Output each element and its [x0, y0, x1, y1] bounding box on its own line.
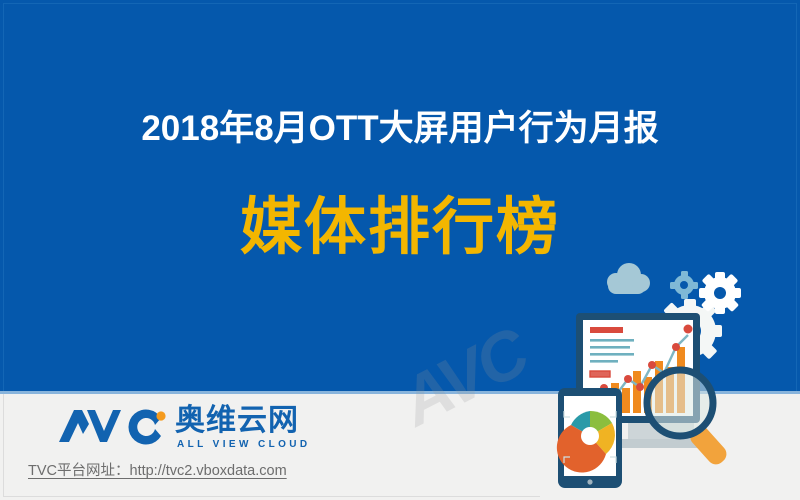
avc-logo[interactable]: 奥维云网 ALL VIEW CLOUD	[57, 404, 317, 456]
logo-brand-cn: 奥维云网	[175, 404, 299, 438]
illustration-svg	[540, 255, 800, 500]
gear-small-icon	[670, 271, 698, 299]
footer-border-left	[3, 394, 4, 497]
data-analytics-illustration	[540, 255, 800, 500]
slide-canvas: 2018年8月OTT大屏用户行为月报 媒体排行榜 AVC	[0, 0, 800, 500]
gear-medium-icon	[699, 272, 741, 314]
cloud-icon	[607, 263, 650, 294]
tvc-platform-url[interactable]: TVC平台网址：http://tvc2.vboxdata.com	[28, 459, 287, 480]
avc-wordmark-icon	[57, 404, 175, 448]
logo-accent-dot	[156, 411, 165, 420]
logo-brand-en: ALL VIEW CLOUD	[177, 439, 311, 450]
page-title: 2018年8月OTT大屏用户行为月报	[0, 103, 800, 155]
